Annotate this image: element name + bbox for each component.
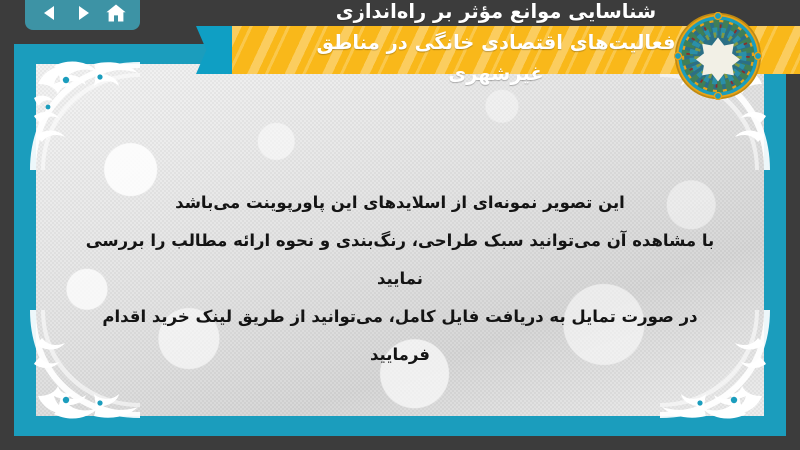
islamic-medallion-icon [674,12,762,100]
next-triangle-icon [74,4,92,22]
home-icon [105,3,127,23]
slide-body-text: این تصویر نمونه‌ای از اسلایدهای این پاور… [74,184,726,374]
home-button[interactable]: خانه [103,1,129,25]
slide-viewer: قبلی بعدی خانه [0,0,800,450]
presentation-nav-bar: قبلی بعدی خانه [25,0,140,30]
next-slide-button[interactable]: بعدی [70,1,96,25]
ribbon-tail [196,26,236,74]
slide-canvas: این تصویر نمونه‌ای از اسلایدهای این پاور… [14,44,786,436]
prev-triangle-icon [41,4,59,22]
slide-title-ribbon: شناسایی موانع مؤثر بر راه‌اندازی فعالیت‌… [196,0,800,96]
previous-slide-button[interactable]: قبلی [37,1,63,25]
